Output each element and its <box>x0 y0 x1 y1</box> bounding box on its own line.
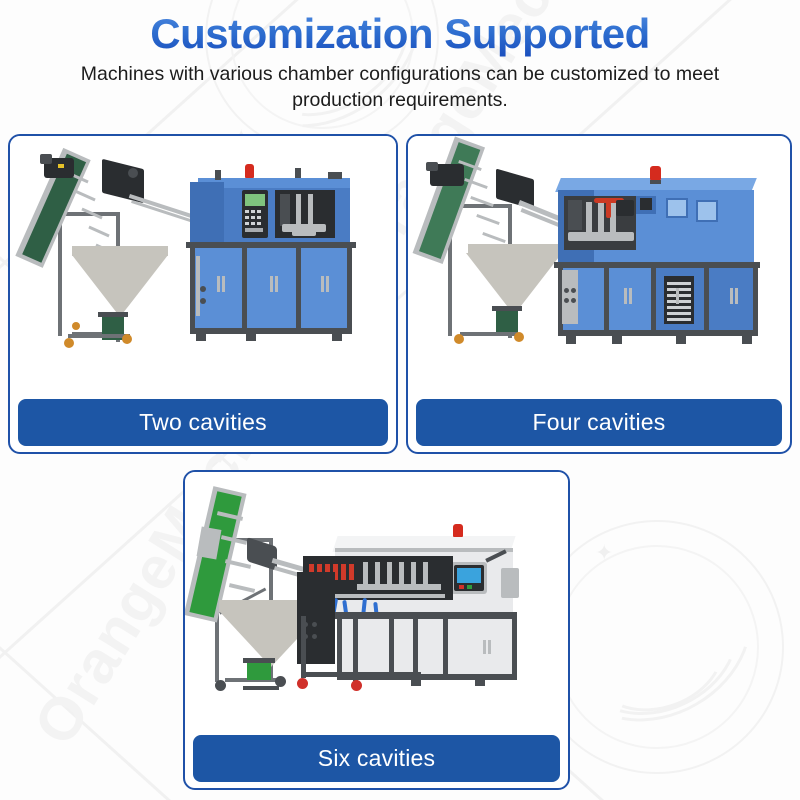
card-caption-six-cavities: Six cavities <box>193 735 560 782</box>
watermark-logo-circle <box>555 545 759 749</box>
card-caption-four-cavities: Four cavities <box>416 399 782 446</box>
page-title: Customization Supported <box>0 10 800 57</box>
card-caption-two-cavities: Two cavities <box>18 399 388 446</box>
product-card-two-cavities[interactable]: Two cavities <box>8 134 398 454</box>
watermark-star-icon: ✦ <box>595 545 611 561</box>
machine-photo-four-cavities <box>408 136 790 392</box>
watermark-swoosh <box>534 521 782 754</box>
promo-banner: ✦ ✦ OrangeMech OrangeMech Customization … <box>0 0 800 800</box>
watermark-swoosh <box>577 588 739 729</box>
product-card-four-cavities[interactable]: Four cavities <box>406 134 792 454</box>
header: Customization Supported Machines with va… <box>0 0 800 114</box>
machine-photo-six-cavities <box>185 472 568 728</box>
machine-photo-two-cavities <box>10 136 396 392</box>
page-subtitle: Machines with various chamber configurat… <box>35 62 765 113</box>
watermark-swoosh <box>556 556 760 740</box>
product-card-six-cavities[interactable]: Six cavities <box>183 470 570 790</box>
